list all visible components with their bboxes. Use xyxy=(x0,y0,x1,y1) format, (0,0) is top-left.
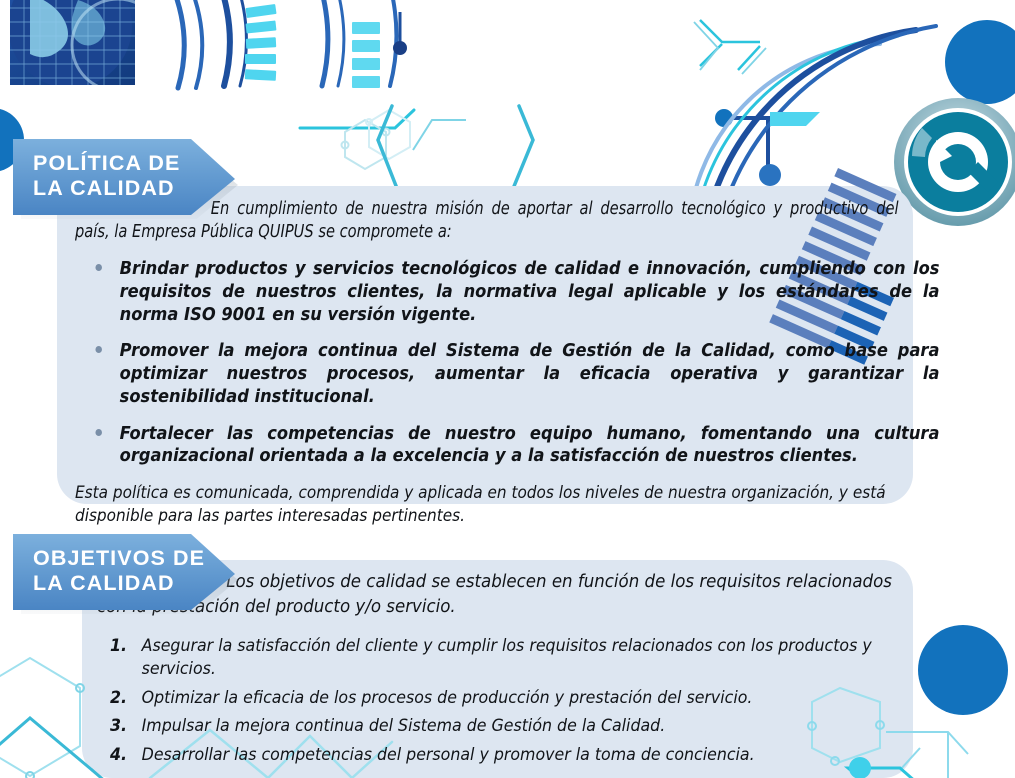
policy-tag-text: POLÍTICA DE LA CALIDAD xyxy=(13,139,258,202)
objectives-tag-text: OBJETIVOS DE LA CALIDAD xyxy=(13,534,258,597)
objectives-tag-line-2: LA CALIDAD xyxy=(33,571,258,596)
bottom-left-peak-lines xyxy=(0,718,106,778)
objective-number: 4. xyxy=(110,744,127,767)
policy-bullet-item: Brindar productos y servicios tecnológic… xyxy=(75,258,939,326)
node-dot-right-2 xyxy=(759,164,781,186)
hexagon-outline-cluster xyxy=(342,110,411,169)
policy-tag-line-2: LA CALIDAD xyxy=(33,176,258,201)
slide-canvas: POLÍTICA DE LA CALIDAD En cumplimiento d… xyxy=(0,0,1015,778)
policy-bullet-text: Promover la mejora continua del Sistema … xyxy=(120,341,940,407)
objective-number: 3. xyxy=(110,715,127,738)
policy-bullet-item: Fortalecer las competencias de nuestro e… xyxy=(75,423,939,469)
globe-graphic xyxy=(8,0,164,91)
objective-number: 2. xyxy=(110,687,127,710)
objective-text: Optimizar la eficacia de los procesos de… xyxy=(142,688,753,708)
policy-content: En cumplimiento de nuestra misión de apo… xyxy=(75,198,895,528)
cyan-wedge xyxy=(770,112,820,126)
objective-list-item: 3. Impulsar la mejora continua del Siste… xyxy=(97,715,950,738)
policy-closing-text: Esta política es comunicada, comprendida… xyxy=(75,482,894,528)
segmented-bar-arc-2 xyxy=(352,22,380,88)
solid-blue-circle-top-right xyxy=(945,20,1015,104)
node-dot xyxy=(393,41,407,55)
objective-number: 1. xyxy=(110,635,127,658)
objective-text: Desarrollar las competencias del persona… xyxy=(142,745,755,765)
objectives-tag-line-1: OBJETIVOS DE xyxy=(33,546,258,571)
policy-bullet-text: Fortalecer las competencias de nuestro e… xyxy=(120,424,940,467)
quipus-q-logo-icon xyxy=(894,98,1015,226)
bullet-dot-icon xyxy=(95,264,102,271)
policy-bullet-list: Brindar productos y servicios tecnológic… xyxy=(75,258,895,468)
bullet-dot-icon xyxy=(95,429,102,436)
policy-bullet-item: Promover la mejora continua del Sistema … xyxy=(75,340,939,408)
policy-bullet-text: Brindar productos y servicios tecnológic… xyxy=(120,259,940,325)
objective-text: Impulsar la mejora continua del Sistema … xyxy=(142,716,666,736)
objectives-section-tag: OBJETIVOS DE LA CALIDAD xyxy=(13,534,258,610)
policy-tag-line-1: POLÍTICA DE xyxy=(33,151,258,176)
objective-list-item: 1. Asegurar la satisfacción del cliente … xyxy=(97,635,950,681)
bullet-dot-icon xyxy=(95,346,102,353)
large-teal-hexagon-outline-2 xyxy=(413,120,466,150)
objective-list-item: 4. Desarrollar las competencias del pers… xyxy=(97,744,950,767)
right-hexagon-open-2 xyxy=(694,22,766,74)
objective-list-item: 2. Optimizar la eficacia de los procesos… xyxy=(97,687,950,710)
right-hexagon-open xyxy=(700,20,760,70)
segmented-bar-arc-1 xyxy=(245,4,277,81)
bottom-left-hexagon-network xyxy=(0,658,84,778)
objectives-numbered-list: 1. Asegurar la satisfacción del cliente … xyxy=(97,635,909,767)
objective-text: Asegurar la satisfacción del cliente y c… xyxy=(142,636,872,679)
policy-section-tag: POLÍTICA DE LA CALIDAD xyxy=(13,139,258,215)
